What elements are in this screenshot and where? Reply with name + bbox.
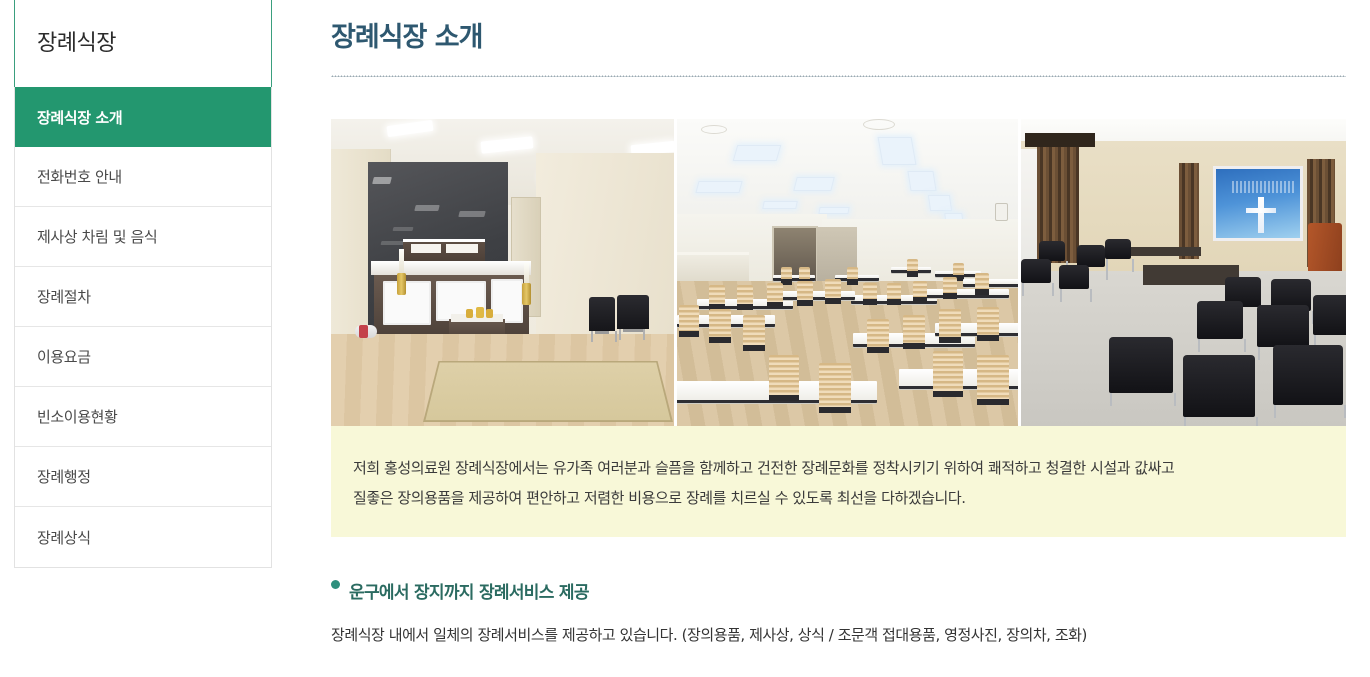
service-section: 운구에서 장지까지 장례서비스 제공 장례식장 내에서 일체의 장례서비스를 제… xyxy=(331,578,1346,648)
photo-gallery xyxy=(331,119,1346,426)
sidebar-item-procedure[interactable]: 장례절차 xyxy=(15,267,271,327)
service-section-heading-text: 운구에서 장지까지 장례서비스 제공 xyxy=(349,578,589,603)
bullet-dot-icon xyxy=(331,580,340,589)
sidebar-item-label: 이용요금 xyxy=(37,346,91,367)
sidebar-item-memorial-table-food[interactable]: 제사상 차림 및 음식 xyxy=(15,207,271,267)
sidebar-item-phone[interactable]: 전화번호 안내 xyxy=(15,147,271,207)
sidebar-title: 장례식장 xyxy=(15,0,271,87)
sidebar-item-label: 장례식장 소개 xyxy=(37,107,122,128)
sidebar-item-label: 장례절차 xyxy=(37,286,91,307)
sidebar-item-label: 장례행정 xyxy=(37,466,91,487)
funeral-hall-altar-photo xyxy=(331,119,674,426)
service-section-body: 장례식장 내에서 일체의 장례서비스를 제공하고 있습니다. (장의용품, 제사… xyxy=(331,622,1346,648)
intro-note-line-1: 저희 홍성의료원 장례식장에서는 유가족 여러분과 슬픔을 함께하고 건전한 장… xyxy=(353,453,1318,483)
sidebar-item-label: 빈소이용현황 xyxy=(37,406,117,427)
sidebar-item-intro[interactable]: 장례식장 소개 xyxy=(15,87,271,147)
main-content: 장례식장 소개 xyxy=(331,0,1346,648)
page-root: 장례식장 장례식장 소개 전화번호 안내 제사상 차림 및 음식 장례절차 이용… xyxy=(0,0,1370,677)
sidebar-item-label: 제사상 차림 및 음식 xyxy=(37,226,157,247)
title-divider xyxy=(331,75,1346,77)
page-title: 장례식장 소개 xyxy=(331,0,1346,59)
sidebar-item-label: 장례상식 xyxy=(37,527,91,548)
sidebar-item-room-availability[interactable]: 빈소이용현황 xyxy=(15,387,271,447)
chapel-ceremony-room-photo xyxy=(1021,119,1346,426)
intro-note-line-2: 질좋은 장의용품을 제공하여 편안하고 저렴한 비용으로 장례를 치르실 수 있… xyxy=(353,483,1318,513)
sidebar-item-label: 전화번호 안내 xyxy=(37,166,122,187)
sidebar: 장례식장 장례식장 소개 전화번호 안내 제사상 차림 및 음식 장례절차 이용… xyxy=(14,0,272,568)
sidebar-nav: 장례식장 소개 전화번호 안내 제사상 차림 및 음식 장례절차 이용요금 빈소… xyxy=(14,87,272,568)
dining-hall-photo xyxy=(677,119,1018,426)
sidebar-item-administration[interactable]: 장례행정 xyxy=(15,447,271,507)
sidebar-item-common-knowledge[interactable]: 장례상식 xyxy=(15,507,271,567)
intro-note-box: 저희 홍성의료원 장례식장에서는 유가족 여러분과 슬픔을 함께하고 건전한 장… xyxy=(331,426,1346,537)
sidebar-item-fees[interactable]: 이용요금 xyxy=(15,327,271,387)
service-section-heading: 운구에서 장지까지 장례서비스 제공 xyxy=(331,578,1346,603)
